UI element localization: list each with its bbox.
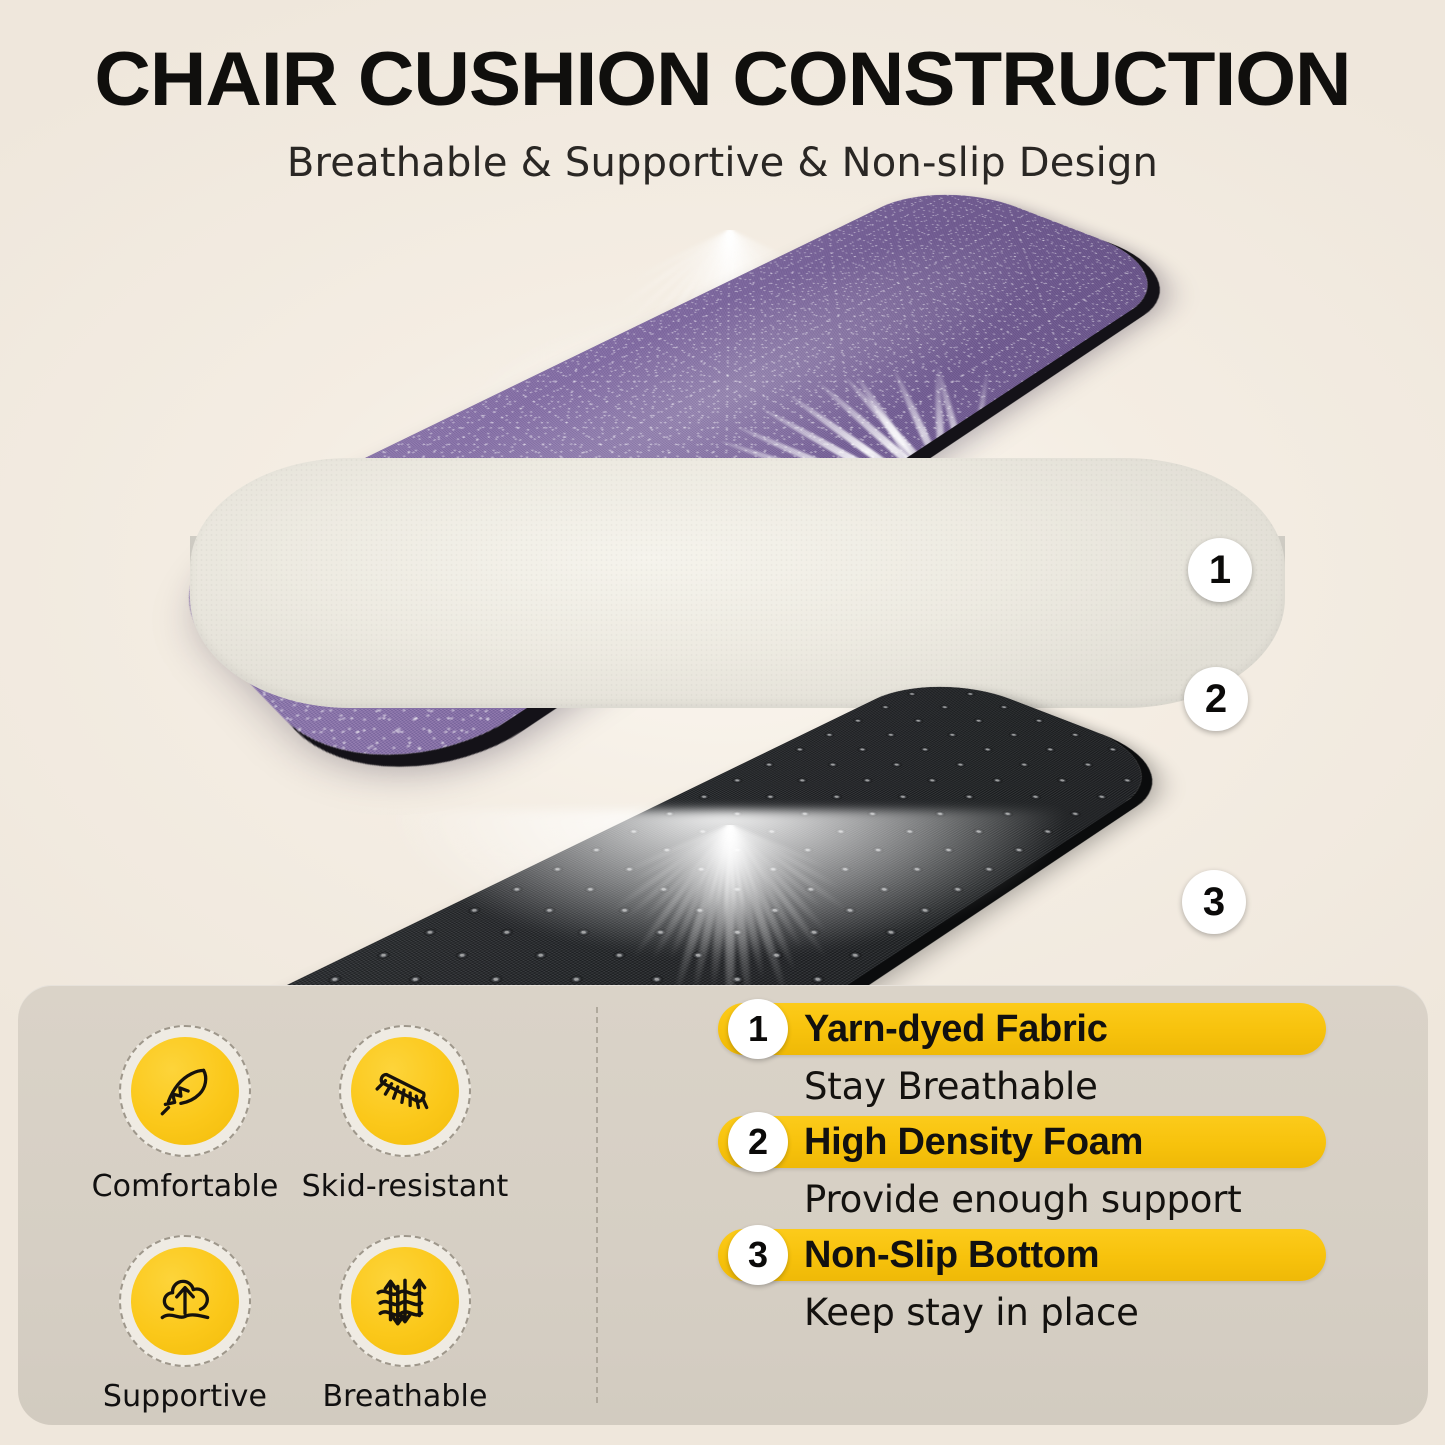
feature-breathable[interactable]: Breathable — [280, 1235, 530, 1414]
feature-label: Supportive — [60, 1379, 310, 1414]
point-description: Provide enough support — [804, 1178, 1418, 1221]
foam-top-surface — [190, 458, 1285, 708]
feather-icon — [131, 1037, 239, 1145]
foam-grain-texture — [190, 458, 1285, 708]
point-number-badge: 1 — [728, 999, 788, 1059]
point-title: High Density Foam — [804, 1121, 1143, 1164]
point-description: Stay Breathable — [804, 1065, 1418, 1108]
feature-skid-resistant[interactable]: Skid-resistant — [280, 1025, 530, 1204]
point-title: Non-Slip Bottom — [804, 1234, 1099, 1277]
feature-label: Breathable — [280, 1379, 530, 1414]
bottom-info-panel: Comfortable — [18, 985, 1428, 1425]
layer-badge-3: 3 — [1182, 870, 1246, 934]
feature-label: Comfortable — [60, 1169, 310, 1204]
point-number-badge: 2 — [728, 1112, 788, 1172]
feature-comfortable[interactable]: Comfortable — [60, 1025, 310, 1204]
point-title: Yarn-dyed Fabric — [804, 1008, 1108, 1051]
page-subtitle: Breathable & Supportive & Non-slip Desig… — [0, 118, 1445, 186]
feature-icon-ring — [339, 1025, 471, 1157]
layer-badge-2: 2 — [1184, 667, 1248, 731]
feature-icon-ring — [119, 1235, 251, 1367]
layer-badge-1: 1 — [1188, 538, 1252, 602]
brush-icon — [351, 1037, 459, 1145]
point-pill[interactable]: Non-Slip Bottom — [718, 1229, 1326, 1281]
feature-icon-grid: Comfortable — [56, 1007, 576, 1407]
header: CHAIR CUSHION CONSTRUCTION Breathable & … — [0, 0, 1445, 195]
infographic-page: CHAIR CUSHION CONSTRUCTION Breathable & … — [0, 0, 1445, 1445]
point-number-badge: 3 — [728, 1225, 788, 1285]
point-pill[interactable]: High Density Foam — [718, 1116, 1326, 1168]
feature-supportive[interactable]: Supportive — [60, 1235, 310, 1414]
point-item-2: High Density Foam 2 Provide enough suppo… — [718, 1116, 1418, 1221]
panel-vertical-divider — [596, 1007, 598, 1403]
point-item-1: Yarn-dyed Fabric 1 Stay Breathable — [718, 1003, 1418, 1108]
page-title: CHAIR CUSHION CONSTRUCTION — [0, 0, 1445, 118]
cloud-arrow-up-icon — [131, 1247, 239, 1355]
feature-label: Skid-resistant — [280, 1169, 530, 1204]
feature-icon-ring — [119, 1025, 251, 1157]
point-pill[interactable]: Yarn-dyed Fabric — [718, 1003, 1326, 1055]
exploded-layer-diagram: 1 2 3 — [0, 190, 1445, 980]
point-item-3: Non-Slip Bottom 3 Keep stay in place — [718, 1229, 1418, 1334]
feature-icon-ring — [339, 1235, 471, 1367]
point-description: Keep stay in place — [804, 1291, 1418, 1334]
numbered-points-list: Yarn-dyed Fabric 1 Stay Breathable High … — [718, 1003, 1418, 1342]
airflow-arrows-icon — [351, 1247, 459, 1355]
